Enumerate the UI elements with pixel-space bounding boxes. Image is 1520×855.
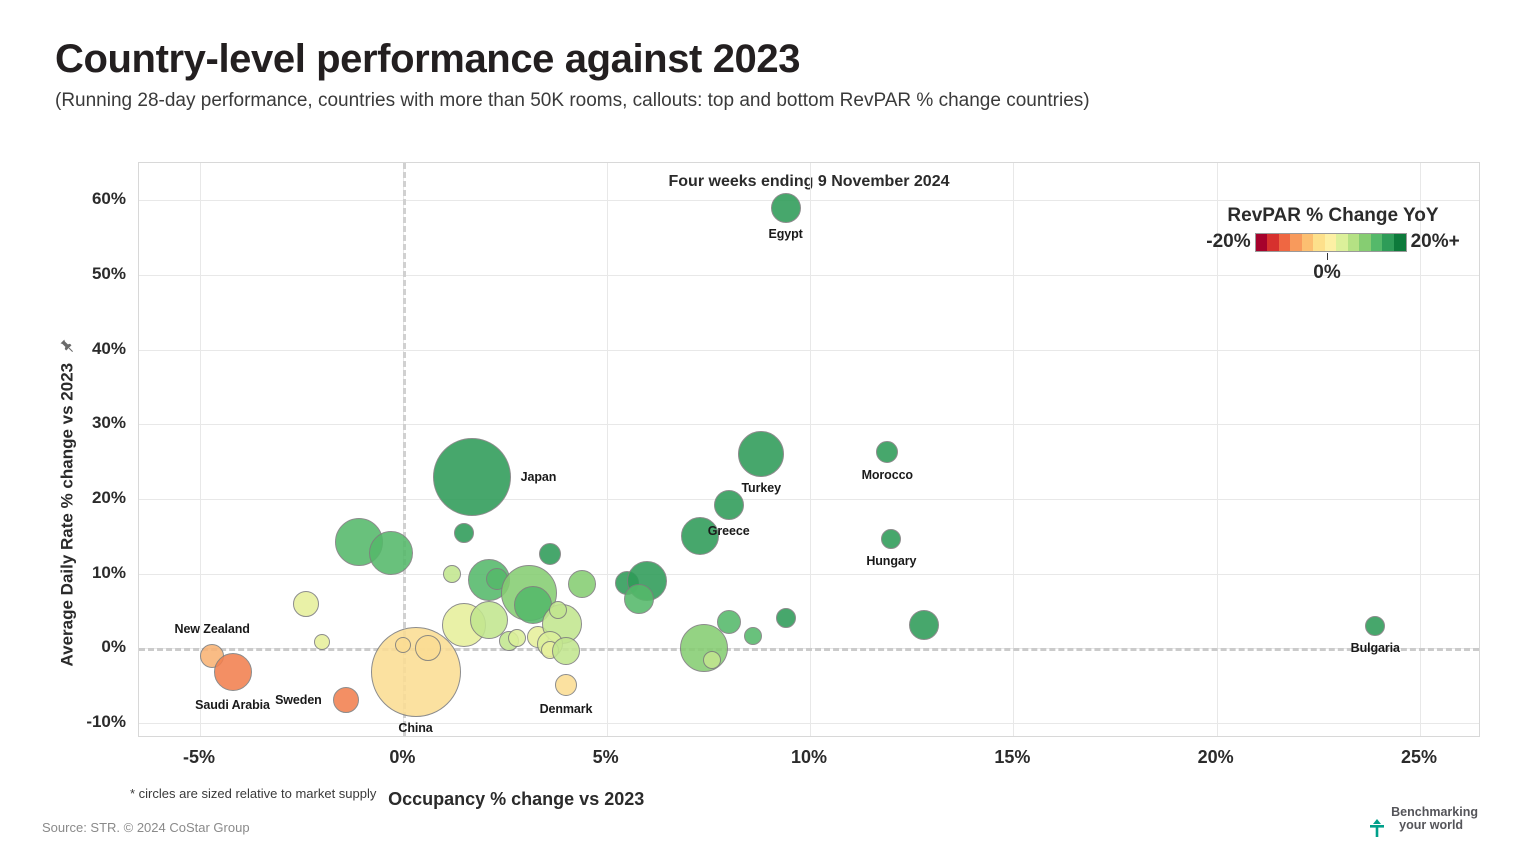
bubble-point[interactable] <box>293 591 319 617</box>
bubble-point[interactable] <box>703 651 721 669</box>
y-tick-label-7: 60% <box>92 189 126 209</box>
brand-logo: Benchmarking your world <box>1369 806 1478 832</box>
bubble-morocco[interactable] <box>876 441 898 463</box>
legend-swatch-3 <box>1290 234 1302 251</box>
page-title: Country-level performance against 2023 <box>55 38 1485 80</box>
bubble-point[interactable] <box>552 637 580 665</box>
gridline-y-4 <box>139 424 1479 425</box>
bubble-sweden[interactable] <box>333 687 359 713</box>
bubble-point[interactable] <box>776 608 796 628</box>
legend-scale: -20% 20%+ <box>1199 231 1467 253</box>
callout-japan: Japan <box>521 470 557 484</box>
legend-swatch-12 <box>1394 234 1406 251</box>
legend-zero-label: 0% <box>1251 262 1403 284</box>
bubble-point[interactable] <box>909 610 939 640</box>
legend-swatch-2 <box>1279 234 1291 251</box>
y-tick-label-6: 50% <box>92 264 126 284</box>
bubble-point[interactable] <box>539 543 561 565</box>
gridline-y-3 <box>139 499 1479 500</box>
panel-title: Four weeks ending 9 November 2024 <box>139 173 1479 191</box>
bubble-saudi-arabia[interactable] <box>214 653 252 691</box>
legend-swatch-5 <box>1313 234 1325 251</box>
callout-turkey: Turkey <box>741 481 780 495</box>
legend-swatch-9 <box>1359 234 1371 251</box>
gridline-y-0 <box>139 723 1479 724</box>
legend-swatch-4 <box>1302 234 1314 251</box>
bubble-japan[interactable] <box>433 438 511 516</box>
legend-title: RevPAR % Change YoY <box>1199 205 1467 227</box>
source-note: Source: STR. © 2024 CoStar Group <box>42 820 250 835</box>
callout-china: China <box>398 721 432 735</box>
y-tick-label-0: -10% <box>86 712 126 732</box>
x-tick-label-6: 25% <box>1401 747 1437 768</box>
legend-zero-marker: 0% <box>1251 253 1403 284</box>
legend-swatch-1 <box>1267 234 1279 251</box>
legend-swatch-10 <box>1371 234 1383 251</box>
bubble-point[interactable] <box>717 610 741 634</box>
legend-swatch-8 <box>1348 234 1360 251</box>
bubble-greece[interactable] <box>714 490 744 520</box>
callout-morocco: Morocco <box>862 468 913 482</box>
legend-min-label: -20% <box>1206 231 1250 253</box>
logo-line-2: your world <box>1391 819 1478 832</box>
callout-hungary: Hungary <box>866 554 916 568</box>
legend-color-bar <box>1255 233 1407 252</box>
zero-line-horizontal <box>139 648 1479 651</box>
bubble-point[interactable] <box>369 531 413 575</box>
callout-greece: Greece <box>708 524 750 538</box>
bubble-hungary[interactable] <box>881 529 901 549</box>
legend-swatch-0 <box>1256 234 1268 251</box>
callout-saudi-arabia: Saudi Arabia <box>195 698 270 712</box>
bubble-denmark[interactable] <box>555 674 577 696</box>
callout-egypt: Egypt <box>768 227 802 241</box>
y-tick-label-2: 10% <box>92 563 126 583</box>
x-tick-label-5: 20% <box>1198 747 1234 768</box>
x-tick-label-3: 10% <box>791 747 827 768</box>
bubble-point[interactable] <box>454 523 474 543</box>
bubble-turkey[interactable] <box>738 431 784 477</box>
callout-sweden: Sweden <box>275 693 322 707</box>
callout-denmark: Denmark <box>540 702 593 716</box>
legend: RevPAR % Change YoY -20% 20%+ 0% <box>1199 205 1467 284</box>
x-tick-label-2: 5% <box>593 747 619 768</box>
bubble-point[interactable] <box>549 601 567 619</box>
y-axis-label-text: Average Daily Rate % change vs 2023 <box>57 363 76 667</box>
y-tick-label-3: 20% <box>92 488 126 508</box>
x-tick-label-4: 15% <box>994 747 1030 768</box>
bubble-point[interactable] <box>415 635 441 661</box>
legend-swatch-6 <box>1325 234 1337 251</box>
bubble-point[interactable] <box>568 570 596 598</box>
x-axis-label: Occupancy % change vs 2023 <box>388 789 644 810</box>
legend-swatch-11 <box>1382 234 1394 251</box>
x-tick-label-0: -5% <box>183 747 215 768</box>
y-tick-label-1: 0% <box>101 637 126 657</box>
bubble-point[interactable] <box>395 637 411 653</box>
pin-icon <box>58 339 78 353</box>
bubble-egypt[interactable] <box>771 193 801 223</box>
callout-bulgaria: Bulgaria <box>1351 641 1400 655</box>
legend-max-label: 20%+ <box>1411 231 1460 253</box>
header: Country-level performance against 2023 (… <box>55 38 1485 113</box>
y-tick-label-5: 40% <box>92 339 126 359</box>
bubble-point[interactable] <box>314 634 330 650</box>
page-subtitle: (Running 28-day performance, countries w… <box>55 90 1485 113</box>
gridline-y-2 <box>139 574 1479 575</box>
gridline-y-7 <box>139 200 1479 201</box>
x-tick-label-1: 0% <box>389 747 415 768</box>
bubble-bulgaria[interactable] <box>1365 616 1385 636</box>
logo-text: Benchmarking your world <box>1391 806 1478 832</box>
bubble-point[interactable] <box>624 584 654 614</box>
footnote: * circles are sized relative to market s… <box>130 786 376 801</box>
bubble-point[interactable] <box>508 629 526 647</box>
bubble-point[interactable] <box>744 627 762 645</box>
legend-swatch-7 <box>1336 234 1348 251</box>
callout-new-zealand: New Zealand <box>175 622 250 636</box>
y-tick-label-4: 30% <box>92 413 126 433</box>
plot-area: Four weeks ending 9 November 2024 EgyptJ… <box>138 162 1480 737</box>
bubble-point[interactable] <box>443 565 461 583</box>
gridline-y-5 <box>139 350 1479 351</box>
logo-mark-icon <box>1369 806 1385 832</box>
